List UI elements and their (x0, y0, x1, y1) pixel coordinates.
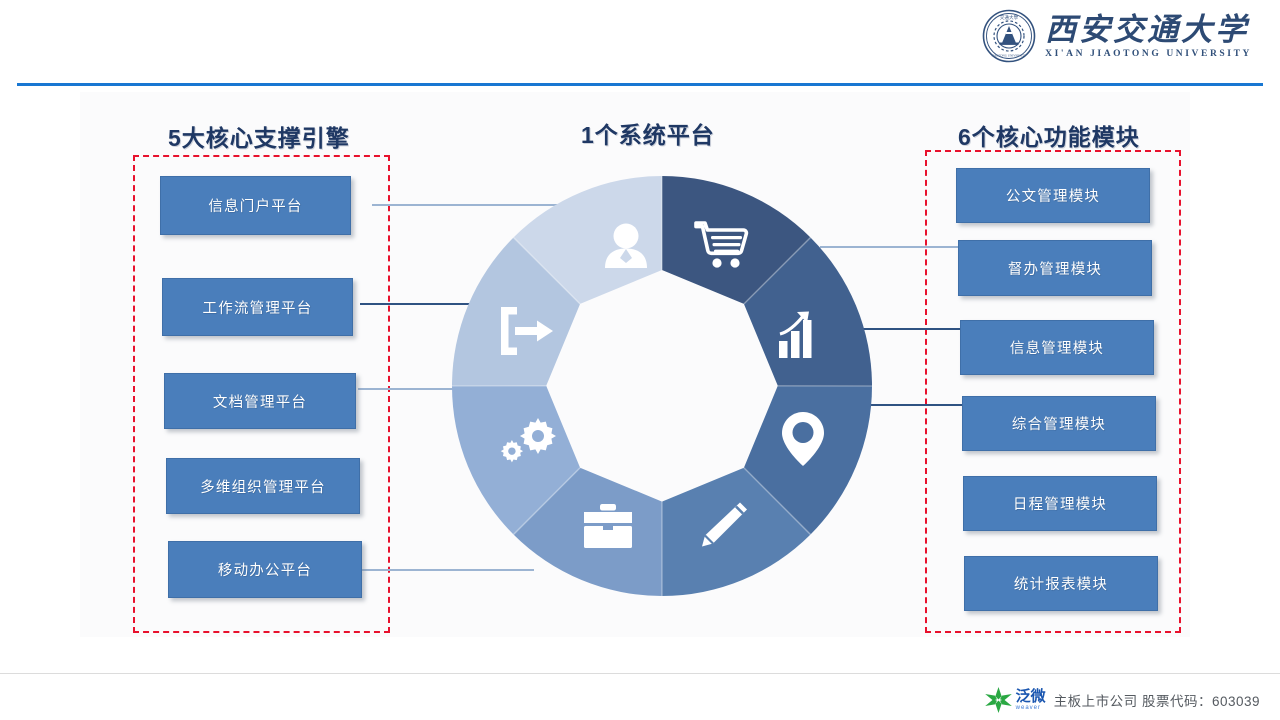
module-box-official-doc[interactable]: 公文管理模块 (956, 168, 1150, 223)
left-column-title: 5大核心支撑引擎 (168, 119, 350, 153)
module-box-report[interactable]: 统计报表模块 (964, 556, 1158, 611)
university-name-cn: 西安交通大学 (1045, 13, 1249, 48)
university-wordmark: 西安交通大学 XI'AN JIAOTONG UNIVERSITY (1045, 13, 1252, 59)
weaver-wordmark: 泛微 weaver (1016, 689, 1046, 711)
platform-ring-diagram (443, 167, 881, 605)
module-box-comprehensive[interactable]: 综合管理模块 (962, 396, 1156, 451)
module-box-supervision[interactable]: 督办管理模块 (958, 240, 1152, 296)
header-divider (17, 83, 1263, 86)
engine-box-workflow[interactable]: 工作流管理平台 (162, 278, 353, 336)
weaver-brand-cn: 泛微 (1016, 689, 1046, 704)
engine-box-document[interactable]: 文档管理平台 (164, 373, 356, 429)
university-logo: 交通大學 JIAOTONG UNIVERSITY 西安交通大学 XI'AN JI… (982, 9, 1252, 63)
right-column-title: 6个核心功能模块 (958, 118, 1140, 152)
university-name-en: XI'AN JIAOTONG UNIVERSITY (1045, 49, 1252, 59)
engine-box-info-portal[interactable]: 信息门户平台 (160, 176, 351, 235)
weaver-brand-en: weaver (1016, 705, 1046, 711)
weaver-starburst-icon (984, 686, 1014, 714)
segment-seams (452, 176, 872, 596)
slide-canvas: 交通大學 JIAOTONG UNIVERSITY 西安交通大学 XI'AN JI… (0, 0, 1280, 720)
footer-divider (0, 673, 1280, 674)
engine-box-mobile-office[interactable]: 移动办公平台 (168, 541, 362, 598)
engine-box-multi-org[interactable]: 多维组织管理平台 (166, 458, 360, 514)
weaver-logo: 泛微 weaver (984, 686, 1046, 714)
footer-listing-note: 主板上市公司 股票代码：603039 (1054, 690, 1260, 710)
university-seal-icon: 交通大學 JIAOTONG UNIVERSITY (982, 9, 1036, 63)
center-title: 1个系统平台 (581, 116, 715, 150)
svg-text:JIAOTONG UNIVERSITY: JIAOTONG UNIVERSITY (992, 54, 1027, 58)
slide-footer: 泛微 weaver 主板上市公司 股票代码：603039 (984, 686, 1260, 714)
module-box-schedule[interactable]: 日程管理模块 (963, 476, 1157, 531)
module-box-information[interactable]: 信息管理模块 (960, 320, 1154, 375)
svg-text:交通大學: 交通大學 (1000, 14, 1019, 21)
slide-header: 交通大學 JIAOTONG UNIVERSITY 西安交通大学 XI'AN JI… (0, 0, 1280, 86)
